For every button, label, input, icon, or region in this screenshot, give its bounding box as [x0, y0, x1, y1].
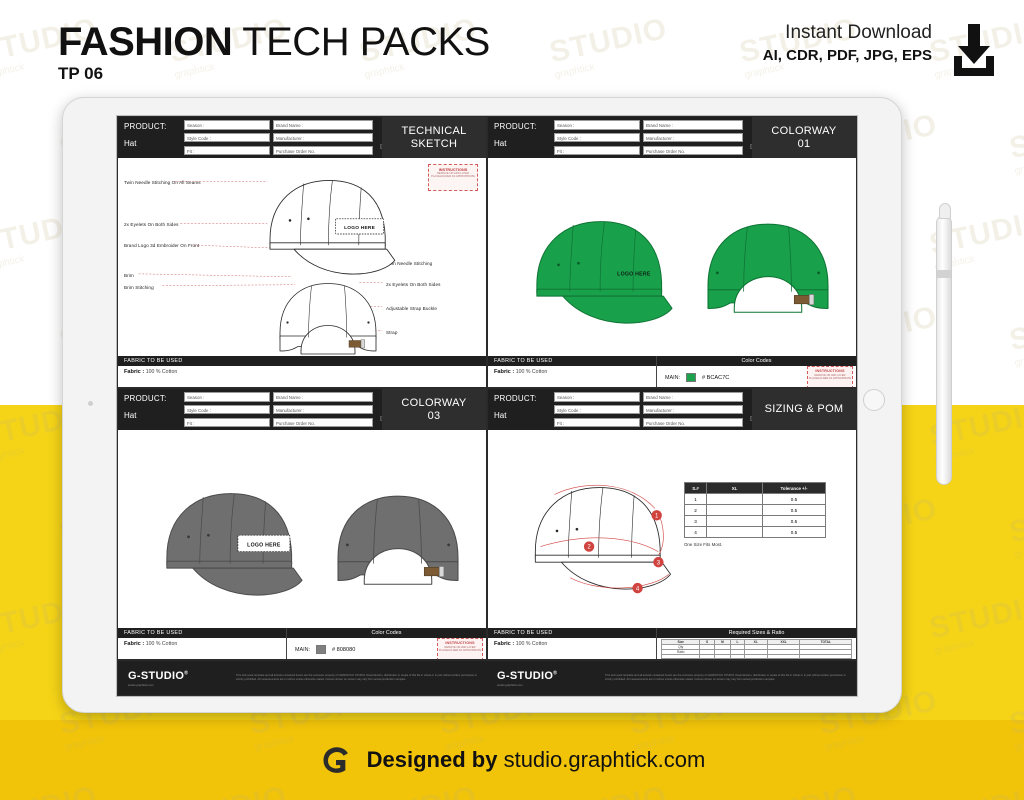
instructions-note: INSTRUCTIONS REMOVE OR ADD LAYER PLACEHO…	[437, 638, 483, 660]
color-swatch	[316, 645, 326, 654]
pom-header-no: S.#	[685, 483, 707, 494]
panel-footer: FABRIC TO BE USED Fabric : 100 % Cotton …	[118, 628, 486, 659]
panel-tag-line2: 03	[428, 410, 441, 423]
fields-right-column: Brand Name : Manufacturer : Purchase Ord…	[273, 392, 373, 427]
brand-disclaimer-right: This tech pack template and all artwork …	[605, 674, 856, 681]
color-swatch	[686, 373, 696, 382]
brand-logo-text: G-STUDIO®	[497, 670, 605, 682]
panel-technical-sketch: PRODUCT: Hat Season : Style Code : Fit :…	[117, 116, 487, 388]
pom-header-xl: XL	[707, 483, 763, 494]
hat-sketch-back	[268, 276, 388, 366]
product-label: PRODUCT:	[124, 122, 184, 131]
field-fit[interactable]: Fit :	[184, 146, 270, 156]
panel-body: LOGO HERE	[118, 430, 486, 628]
fabric-value: Fabric : 100 % Cotton	[488, 366, 656, 387]
pom-header-tolerance: Tolerance +/-	[763, 483, 826, 494]
pom-cell-xl	[707, 494, 763, 505]
ratio-cell	[800, 655, 852, 659]
fabric-value: Fabric : 100 % Cotton	[118, 638, 286, 659]
color-main-label: MAIN:	[295, 647, 310, 653]
field-manufacturer[interactable]: Manufacturer :	[273, 133, 373, 143]
panel-footer: FABRIC TO BE USED Fabric : 100 % Cotton …	[488, 356, 856, 387]
field-season[interactable]: Season :	[184, 392, 270, 402]
download-icon[interactable]	[946, 22, 1002, 78]
hat-colorway03-side: LOGO HERE	[140, 478, 315, 608]
pom-cell-tol: 0.5	[763, 494, 826, 505]
field-style-code[interactable]: Style Code :	[554, 405, 640, 415]
page-title: FASHION TECH PACKS	[58, 20, 490, 65]
fabric-key: Fabric :	[494, 641, 514, 647]
hat-colorway03-back	[323, 478, 473, 608]
instructions-note: INSTRUCTIONS REMOVE OR ADD LAYER PLACEHO…	[807, 366, 853, 388]
ratio-caption: Required Sizes & Ratio	[657, 628, 856, 638]
fabric-content: 100 % Cotton	[146, 369, 177, 375]
ratio-cell	[662, 655, 700, 659]
panel-tag-line2: SKETCH	[411, 138, 457, 151]
instructions-body: REMOVE OR ADD LAYER PLACEHOLDER AS APPRO…	[438, 646, 482, 653]
color-codes-block: Color Codes MAIN: # BCAC7C INSTRUCTIONS …	[656, 356, 856, 387]
page-header: FASHION TECH PACKS TP 06 Instant Downloa…	[0, 0, 1024, 100]
fabric-value: Fabric : 100 % Cotton	[118, 366, 486, 387]
pom-cell-xl	[707, 527, 763, 538]
header-fields: Season : Style Code : Fit : Brand Name :…	[554, 389, 743, 430]
fabric-key: Fabric :	[124, 369, 144, 375]
ratio-cell	[767, 655, 800, 659]
ratio-cell	[731, 655, 744, 659]
fabric-block: FABRIC TO BE USED Fabric : 100 % Cotton	[488, 356, 656, 387]
fields-left-column: Season : Style Code : Fit :	[554, 120, 640, 155]
brand-disclaimer-left: This tech pack template and all artwork …	[236, 674, 487, 681]
field-purchase-order[interactable]: Purchase Order No.	[273, 146, 373, 156]
panel-colorway-03: PRODUCT: Hat Season : Style Code : Fit :…	[117, 388, 487, 660]
field-fit[interactable]: Fit :	[184, 418, 270, 428]
pom-table-row: 40.5	[685, 527, 826, 538]
product-value: Hat	[494, 411, 554, 420]
field-fit[interactable]: Fit :	[554, 418, 640, 428]
fabric-caption: FABRIC TO BE USED	[118, 356, 486, 366]
field-style-code[interactable]: Style Code :	[184, 405, 270, 415]
product-block: PRODUCT: Hat	[118, 117, 184, 158]
panel-body: LOGO HERE	[488, 158, 856, 356]
product-value: Hat	[494, 139, 554, 148]
header-fields: Season : Style Code : Fit : Brand Name :…	[554, 117, 743, 158]
fabric-block: FABRIC TO BE USED Fabric : 100 % Cotton	[118, 628, 286, 659]
brand-strip: G-STUDIO® studio.graphtick.com This tech…	[117, 660, 857, 696]
techpack-grid: PRODUCT: Hat Season : Style Code : Fit :…	[117, 116, 857, 696]
field-brand-name[interactable]: Brand Name :	[273, 120, 373, 130]
instant-download-label: Instant Download	[763, 22, 932, 44]
pom-cell-no: 4	[685, 527, 707, 538]
download-info: Instant Download AI, CDR, PDF, JPG, EPS	[763, 22, 932, 64]
tablet-home-button[interactable]	[863, 389, 885, 411]
panel-sizing-pom: PRODUCT: Hat Season : Style Code : Fit :…	[487, 388, 857, 660]
color-hex-value: # BCAC7C	[702, 375, 729, 381]
panel-header: PRODUCT: Hat Season : Style Code : Fit :…	[118, 389, 486, 430]
color-main-label: MAIN:	[665, 375, 680, 381]
page-title-bold: FASHION	[58, 20, 232, 64]
fabric-caption: FABRIC TO BE USED	[488, 628, 656, 638]
panel-tag-line1: SIZING & POM	[765, 403, 844, 416]
field-season[interactable]: Season :	[554, 392, 640, 402]
designed-by-site: studio.graphtick.com	[504, 747, 706, 772]
page-subtitle: TP 06	[58, 64, 103, 84]
brand-logo-mark: ®	[553, 670, 557, 676]
panel-header: PRODUCT: Hat Season : Style Code : Fit :…	[488, 389, 856, 430]
fabric-content: 100 % Cotton	[516, 641, 547, 647]
pom-cell-no: 2	[685, 505, 707, 516]
panel-header: PRODUCT: Hat Season : Style Code : Fit :…	[488, 117, 856, 158]
logo-here-text-front: LOGO HERE	[247, 542, 281, 548]
pom-cell-no: 3	[685, 516, 707, 527]
hat-colorway01-back	[693, 206, 843, 336]
product-value: Hat	[124, 411, 184, 420]
product-value: Hat	[124, 139, 184, 148]
brand-logo-right: G-STUDIO® studio.graphtick.com	[487, 670, 605, 687]
field-manufacturer[interactable]: Manufacturer :	[273, 405, 373, 415]
fabric-key: Fabric :	[124, 641, 144, 647]
panel-tag-line1: COLORWAY	[771, 125, 836, 138]
page-title-light: TECH PACKS	[232, 20, 490, 64]
product-block: PRODUCT: Hat	[488, 389, 554, 430]
product-label: PRODUCT:	[494, 122, 554, 131]
fabric-key: Fabric :	[494, 369, 514, 375]
pom-table-row: 10.5	[685, 494, 826, 505]
hat-pom-diagram: 1 2 3 4	[506, 472, 686, 602]
fields-right-column: Brand Name : Manufacturer : Purchase Ord…	[273, 120, 373, 155]
designed-by-text: Designed by studio.graphtick.com	[367, 747, 706, 773]
pom-cell-xl	[707, 516, 763, 527]
ratio-cell	[744, 655, 767, 659]
panel-footer: FABRIC TO BE USED Fabric : 100 % Cotton	[118, 356, 486, 387]
fabric-content: 100 % Cotton	[146, 641, 177, 647]
color-codes-row: MAIN: # 808080 INSTRUCTIONS REMOVE OR AD…	[287, 638, 486, 660]
instructions-title: INSTRUCTIONS	[808, 369, 852, 373]
product-label: PRODUCT:	[124, 394, 184, 403]
panel-header: PRODUCT: Hat Season : Style Code : Fit :…	[118, 117, 486, 158]
pom-cell-tol: 0.5	[763, 516, 826, 527]
brand-cell-right: G-STUDIO® studio.graphtick.com This tech…	[487, 661, 856, 695]
ratio-cell	[700, 655, 714, 659]
field-style-code[interactable]: Style Code :	[184, 133, 270, 143]
instructions-body: REMOVE OR ADD LAYER PLACEHOLDER AS APPRO…	[808, 374, 852, 381]
pom-note: One Size Fits Most.	[684, 542, 722, 547]
designed-by-label: Designed by	[367, 747, 498, 772]
pom-measurement-table: S.# XL Tolerance +/- 10.520.530.540.5	[684, 482, 826, 538]
fields-left-column: Season : Style Code : Fit :	[554, 392, 640, 427]
ratio-body: SizeSMLXLXXLTOTAL QtyRatio	[657, 638, 856, 660]
color-codes-block: Color Codes MAIN: # 808080 INSTRUCTIONS …	[286, 628, 486, 659]
hat-colorway01-side: LOGO HERE	[510, 206, 685, 336]
tablet-camera	[88, 401, 93, 406]
ratio-cell	[714, 655, 731, 659]
required-sizes-ratio-block: Required Sizes & Ratio SizeSMLXLXXLTOTAL…	[656, 628, 856, 659]
fields-right-column: Brand Name : Manufacturer : Purchase Ord…	[643, 120, 743, 155]
fields-right-column: Brand Name : Manufacturer : Purchase Ord…	[643, 392, 743, 427]
pom-cell-no: 1	[685, 494, 707, 505]
panel-tag: COLORWAY 01	[752, 117, 856, 158]
brand-cell-left: G-STUDIO® studio.graphtick.com This tech…	[118, 661, 487, 695]
hat-sketch-side: LOGO HERE	[246, 166, 406, 286]
logo-here-text-front: LOGO HERE	[344, 225, 376, 231]
pencil-band	[937, 270, 951, 278]
product-block: PRODUCT: Hat	[488, 117, 554, 158]
pom-table-header-row: S.# XL Tolerance +/-	[685, 483, 826, 494]
brand-logo-name: G-STUDIO	[128, 670, 184, 682]
panel-tag-line1: TECHNICAL	[401, 125, 466, 138]
pom-cell-tol: 0.5	[763, 527, 826, 538]
logo-here-text-front: LOGO HERE	[617, 271, 651, 277]
color-codes-caption: Color Codes	[657, 356, 856, 366]
file-formats-label: AI, CDR, PDF, JPG, EPS	[763, 47, 932, 64]
header-fields: Season : Style Code : Fit : Brand Name :…	[184, 389, 373, 430]
pom-cell-tol: 0.5	[763, 505, 826, 516]
fabric-value: Fabric : 100 % Cotton	[488, 638, 656, 659]
fields-left-column: Season : Style Code : Fit :	[184, 392, 270, 427]
color-hex-value: # 808080	[332, 647, 355, 653]
field-purchase-order[interactable]: Purchase Order No.	[273, 418, 373, 428]
fabric-block: FABRIC TO BE USED Fabric : 100 % Cotton	[118, 356, 486, 387]
field-brand-name[interactable]: Brand Name :	[643, 392, 743, 402]
field-fit[interactable]: Fit :	[554, 146, 640, 156]
panel-body: 1 2 3 4 S.# XL Tolerance +	[488, 430, 856, 628]
fabric-caption: FABRIC TO BE USED	[488, 356, 656, 366]
fabric-caption: FABRIC TO BE USED	[118, 628, 286, 638]
color-codes-row: MAIN: # BCAC7C INSTRUCTIONS REMOVE OR AD…	[657, 366, 856, 388]
field-manufacturer[interactable]: Manufacturer :	[643, 133, 743, 143]
product-label: PRODUCT:	[494, 394, 554, 403]
brand-logo-sub: studio.graphtick.com	[128, 683, 236, 687]
field-style-code[interactable]: Style Code :	[554, 133, 640, 143]
color-codes-caption: Color Codes	[287, 628, 486, 638]
fields-left-column: Season : Style Code : Fit :	[184, 120, 270, 155]
panel-body: INSTRUCTIONS REMOVE OR ADD LAYER PLACEHO…	[118, 158, 486, 356]
pom-cell-xl	[707, 505, 763, 516]
designed-by-bar: Designed by studio.graphtick.com	[0, 720, 1024, 800]
field-manufacturer[interactable]: Manufacturer :	[643, 405, 743, 415]
panel-tag: TECHNICAL SKETCH	[382, 117, 486, 158]
tablet-device: PRODUCT: Hat Season : Style Code : Fit :…	[62, 97, 902, 713]
field-season[interactable]: Season :	[184, 120, 270, 130]
ratio-table-row	[662, 655, 852, 659]
g-logo-icon	[319, 743, 353, 777]
ratio-table: SizeSMLXLXXLTOTAL QtyRatio	[661, 639, 852, 659]
field-brand-name[interactable]: Brand Name :	[273, 392, 373, 402]
instructions-title: INSTRUCTIONS	[438, 641, 482, 645]
brand-logo-left: G-STUDIO® studio.graphtick.com	[118, 670, 236, 687]
panel-tag: COLORWAY 03	[382, 389, 486, 430]
panel-colorway-01: PRODUCT: Hat Season : Style Code : Fit :…	[487, 116, 857, 388]
pom-table-row: 30.5	[685, 516, 826, 527]
apple-pencil	[936, 215, 952, 485]
field-purchase-order[interactable]: Purchase Order No.	[643, 418, 743, 428]
brand-logo-name: G-STUDIO	[497, 670, 553, 682]
panel-tag-line1: COLORWAY	[401, 397, 466, 410]
pencil-tip	[939, 203, 951, 219]
fabric-block: FABRIC TO BE USED Fabric : 100 % Cotton	[488, 628, 656, 659]
panel-footer: FABRIC TO BE USED Fabric : 100 % Cotton …	[488, 628, 856, 659]
brand-logo-mark: ®	[184, 670, 188, 676]
fabric-content: 100 % Cotton	[516, 369, 547, 375]
panel-tag: SIZING & POM	[752, 389, 856, 430]
header-fields: Season : Style Code : Fit : Brand Name :…	[184, 117, 373, 158]
tablet-screen: PRODUCT: Hat Season : Style Code : Fit :…	[116, 115, 858, 697]
field-season[interactable]: Season :	[554, 120, 640, 130]
panel-tag-line2: 01	[798, 138, 811, 151]
brand-logo-sub: studio.graphtick.com	[497, 683, 605, 687]
brand-logo-text: G-STUDIO®	[128, 670, 236, 682]
pom-table-row: 20.5	[685, 505, 826, 516]
field-brand-name[interactable]: Brand Name :	[643, 120, 743, 130]
field-purchase-order[interactable]: Purchase Order No.	[643, 146, 743, 156]
product-block: PRODUCT: Hat	[118, 389, 184, 430]
